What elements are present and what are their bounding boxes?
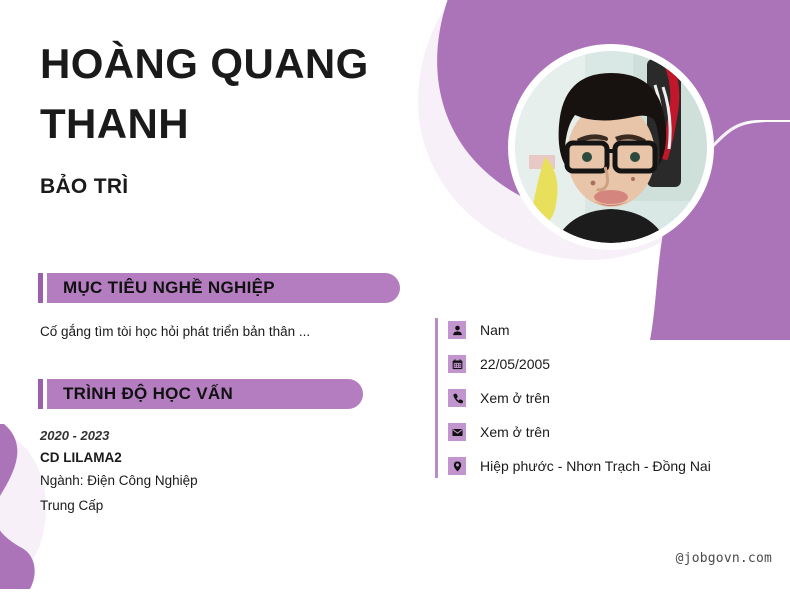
- contact-value-gender: Nam: [480, 322, 510, 338]
- name-block: HOÀNG QUANG THANH BẢO TRÌ: [40, 34, 420, 199]
- section-title-objective: MỤC TIÊU NGHỀ NGHIỆP: [63, 278, 275, 298]
- contact-list: Nam 22/: [435, 318, 711, 478]
- contact-row-address: Hiệp phước - Nhơn Trạch - Đồng Nai: [448, 457, 711, 475]
- objective-body-text: Cố gắng tìm tòi học hỏi phát triển bản t…: [40, 323, 400, 342]
- section-title-education: TRÌNH ĐỘ HỌC VẤN: [63, 384, 233, 404]
- avatar: [508, 44, 714, 250]
- section-pill: TRÌNH ĐỘ HỌC VẤN: [47, 379, 363, 409]
- contact-value-email: Xem ở trên: [480, 424, 550, 440]
- section-header-education: TRÌNH ĐỘ HỌC VẤN: [38, 379, 363, 409]
- watermark: @jobgovn.com: [676, 551, 772, 566]
- cv-page: HOÀNG QUANG THANH BẢO TRÌ: [0, 0, 790, 600]
- profile-photo-illustration: [515, 51, 707, 243]
- envelope-icon: [448, 423, 466, 441]
- education-school: CD LILAMA2: [40, 450, 400, 465]
- page-title: HOÀNG QUANG THANH: [40, 34, 420, 153]
- section-accent-bar: [38, 379, 43, 409]
- contact-row-gender: Nam: [448, 321, 711, 339]
- section-header-objective: MỤC TIÊU NGHỀ NGHIỆP: [38, 273, 400, 303]
- job-title: BẢO TRÌ: [40, 175, 420, 199]
- education-level: Trung Cấp: [40, 498, 400, 513]
- section-pill: MỤC TIÊU NGHỀ NGHIỆP: [47, 273, 400, 303]
- person-icon: [448, 321, 466, 339]
- contact-row-birthdate: 22/05/2005: [448, 355, 711, 373]
- phone-icon: [448, 389, 466, 407]
- education-period: 2020 - 2023: [40, 428, 400, 443]
- calendar-icon: [448, 355, 466, 373]
- avatar-image: [515, 51, 707, 243]
- contact-value-birthdate: 22/05/2005: [480, 356, 550, 372]
- contact-value-address: Hiệp phước - Nhơn Trạch - Đồng Nai: [480, 458, 711, 474]
- education-major: Ngành: Điện Công Nghiệp: [40, 473, 400, 488]
- contact-rail: [435, 318, 438, 478]
- contact-value-phone: Xem ở trên: [480, 390, 550, 406]
- contact-row-email: Xem ở trên: [448, 423, 711, 441]
- contact-rows: Nam 22/: [448, 318, 711, 478]
- section-accent-bar: [38, 273, 43, 303]
- education-entry: 2020 - 2023 CD LILAMA2 Ngành: Điện Công …: [40, 428, 400, 513]
- contact-row-phone: Xem ở trên: [448, 389, 711, 407]
- location-pin-icon: [448, 457, 466, 475]
